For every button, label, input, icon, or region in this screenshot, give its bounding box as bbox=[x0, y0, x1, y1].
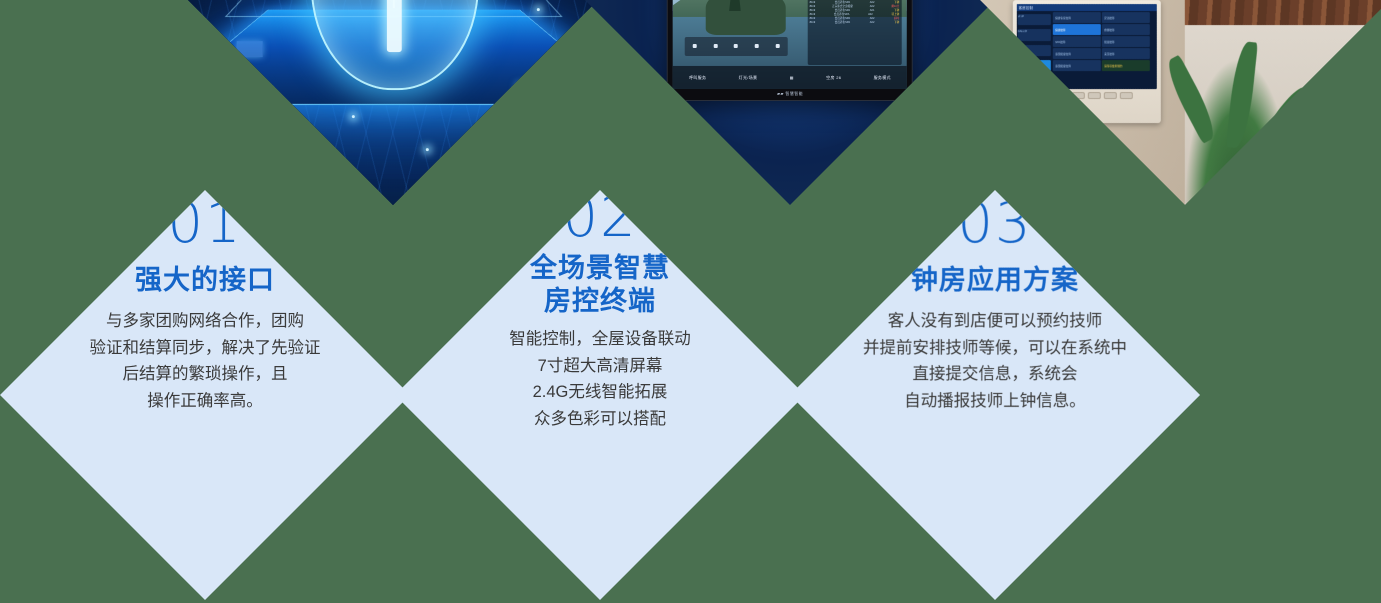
play-pause-icon[interactable] bbox=[714, 44, 718, 48]
menu-item[interactable]: 泰国按摩技师 bbox=[1053, 48, 1101, 59]
feature-text-diamond-1: 01 强大的接口 与多家团购网络合作，团购 验证和结算同步，解决了先验证 后结算… bbox=[0, 190, 410, 600]
taskbar-item-call-service[interactable]: 呼叫服务 bbox=[689, 74, 706, 80]
menu-item[interactable]: 保健专家技师 bbox=[1053, 12, 1101, 23]
hardware-key[interactable] bbox=[1072, 92, 1085, 99]
panel-description: 与多家团购网络合作，团购 验证和结算同步，解决了先验证 后结算的繁琐操作，且 操… bbox=[90, 308, 321, 415]
control-panel-menu[interactable]: 保健专家技师 足浴技师 保健技师 修脚技师 SPA技师 按摩技师 泰国按摩技师 … bbox=[1052, 11, 1156, 89]
panel-number: 03 bbox=[957, 196, 1032, 252]
next-track-icon[interactable] bbox=[734, 44, 738, 48]
menu-item[interactable]: SPA技师 bbox=[1053, 36, 1101, 47]
apps-grid-icon[interactable]: ▦ bbox=[790, 75, 794, 80]
wallpaper-tree bbox=[729, 0, 741, 11]
side-key[interactable]: 点 钟 bbox=[1018, 14, 1052, 25]
media-player-bar[interactable] bbox=[685, 36, 788, 55]
cell-tech: A02 bbox=[870, 21, 875, 25]
feature-image-diamond-2: CSUZBO 22:35 SPA6房 11/24 房人 项目 技师 状态 bbox=[585, 0, 995, 205]
wall-control-panel[interactable]: 客房控制 点 钟 CALL师 圆 钟 停 钟 点 钟 保健专家技师 bbox=[1013, 0, 1161, 123]
taskbar-item-service-mode[interactable]: 服务模式 bbox=[874, 74, 891, 80]
hardware-key[interactable] bbox=[1120, 92, 1133, 99]
room-status-table[interactable]: 房人 项目 技师 状态 8119 会员养生SPA A02 下钟 bbox=[808, 0, 902, 65]
menu-item-warning[interactable]: 请等待技师预约 bbox=[1102, 60, 1150, 71]
screen-taskbar[interactable]: 呼叫服务 灯光/场景 ▦ 空房 26 服务模式 bbox=[673, 66, 907, 88]
panel-description: 客人没有到店便可以预约技师 并提前安排技师等候，可以在系统中 直接提交信息，系统… bbox=[863, 308, 1127, 415]
menu-item[interactable]: 采耳技师 bbox=[1102, 48, 1150, 59]
holographic-shield-circuit-image bbox=[188, 0, 598, 205]
wallpaper-island bbox=[706, 0, 786, 35]
control-panel-title: 客房控制 bbox=[1017, 4, 1157, 11]
chip-block bbox=[516, 82, 532, 93]
hardware-key[interactable] bbox=[1104, 92, 1117, 99]
feature-image-diamond-1 bbox=[188, 0, 598, 205]
menu-item[interactable]: 按摩技师 bbox=[1102, 36, 1150, 47]
diamond-feature-collage: CSUZBO 22:35 SPA6房 11/24 房人 项目 技师 状态 bbox=[0, 0, 1381, 603]
cell-room: 8119 bbox=[810, 21, 816, 25]
volume-icon[interactable] bbox=[755, 44, 759, 48]
feature-text-diamond-2: 02 全场景智慧 房控终端 智能控制，全屋设备联动 7寸超大高清屏幕 2.4G无… bbox=[395, 190, 805, 600]
panel-number: 01 bbox=[167, 196, 242, 252]
device-bottom-brand: ▰▰ 智慧智能 bbox=[668, 90, 912, 99]
table-row: 8119 会员养生SPA A02 下钟 bbox=[810, 21, 900, 25]
taskbar-item-vacant-rooms[interactable]: 空房 26 bbox=[826, 74, 841, 80]
plant-frond bbox=[1279, 122, 1350, 190]
hardware-key[interactable] bbox=[1040, 92, 1053, 99]
panel-1-content: 01 强大的接口 与多家团购网络合作，团购 验证和结算同步，解决了先验证 后结算… bbox=[0, 190, 410, 415]
feature-text-diamond-3: 03 钟房应用方案 客人没有到店便可以预约技师 并提前安排技师等候，可以在系统中… bbox=[790, 190, 1200, 600]
panel-number: 02 bbox=[562, 190, 637, 246]
tablet-device: CSUZBO 22:35 SPA6房 11/24 房人 项目 技师 状态 bbox=[667, 0, 913, 101]
cell-status: 下钟 bbox=[894, 21, 899, 25]
panel-title: 钟房应用方案 bbox=[911, 264, 1079, 297]
menu-item[interactable]: 泰国按摩技师 bbox=[1053, 60, 1101, 71]
light-spark bbox=[352, 115, 355, 118]
light-spark bbox=[426, 148, 429, 151]
control-panel-body: 点 钟 CALL师 圆 钟 停 钟 点 钟 保健专家技师 足浴技师 保健技师 修… bbox=[1017, 11, 1157, 89]
control-panel-side-keys[interactable]: 点 钟 CALL师 圆 钟 停 钟 点 钟 bbox=[1017, 11, 1053, 89]
hardware-key[interactable] bbox=[1088, 92, 1101, 99]
chip-block bbox=[237, 41, 263, 57]
panel-title: 强大的接口 bbox=[135, 264, 275, 297]
side-key[interactable]: 圆 钟 bbox=[1018, 44, 1052, 55]
side-key-selected[interactable]: 停 钟 bbox=[1018, 60, 1052, 71]
panel-3-content: 03 钟房应用方案 客人没有到店便可以预约技师 并提前安排技师等候，可以在系统中… bbox=[790, 190, 1200, 415]
wall-mounted-control-panel-image: 客房控制 点 钟 CALL师 圆 钟 停 钟 点 钟 保健专家技师 bbox=[980, 0, 1381, 205]
menu-item[interactable]: 修脚技师 bbox=[1102, 24, 1150, 35]
cell-item: 会员养生SPA bbox=[835, 21, 850, 25]
feature-image-diamond-3: 客房控制 点 钟 CALL师 圆 钟 停 钟 点 钟 保健专家技师 bbox=[980, 0, 1381, 205]
menu-item-selected[interactable]: 保健技师 bbox=[1053, 24, 1101, 35]
taskbar-item-lighting[interactable]: 灯光/场景 bbox=[739, 74, 758, 80]
menu-item[interactable]: 足浴技师 bbox=[1102, 12, 1150, 23]
panel-title: 全场景智慧 房控终端 bbox=[530, 252, 670, 318]
prev-track-icon[interactable] bbox=[693, 44, 697, 48]
hardware-key[interactable] bbox=[1056, 92, 1069, 99]
smart-room-control-tablet-image: CSUZBO 22:35 SPA6房 11/24 房人 项目 技师 状态 bbox=[585, 0, 995, 205]
control-panel-screen[interactable]: 客房控制 点 钟 CALL师 圆 钟 停 钟 点 钟 保健专家技师 bbox=[1017, 4, 1157, 89]
light-spark bbox=[537, 8, 540, 11]
side-key[interactable]: 点 钟 bbox=[1018, 75, 1052, 86]
hardware-key-row[interactable] bbox=[1017, 92, 1157, 99]
tablet-screen: CSUZBO 22:35 SPA6房 11/24 房人 项目 技师 状态 bbox=[673, 0, 907, 89]
panel-2-content: 02 全场景智慧 房控终端 智能控制，全屋设备联动 7寸超大高清屏幕 2.4G无… bbox=[395, 190, 805, 433]
panel-description: 智能控制，全屋设备联动 7寸超大高清屏幕 2.4G无线智能拓展 众多色彩可以搭配 bbox=[509, 326, 691, 433]
playlist-icon[interactable] bbox=[775, 44, 779, 48]
side-key[interactable]: CALL师 bbox=[1018, 29, 1052, 40]
